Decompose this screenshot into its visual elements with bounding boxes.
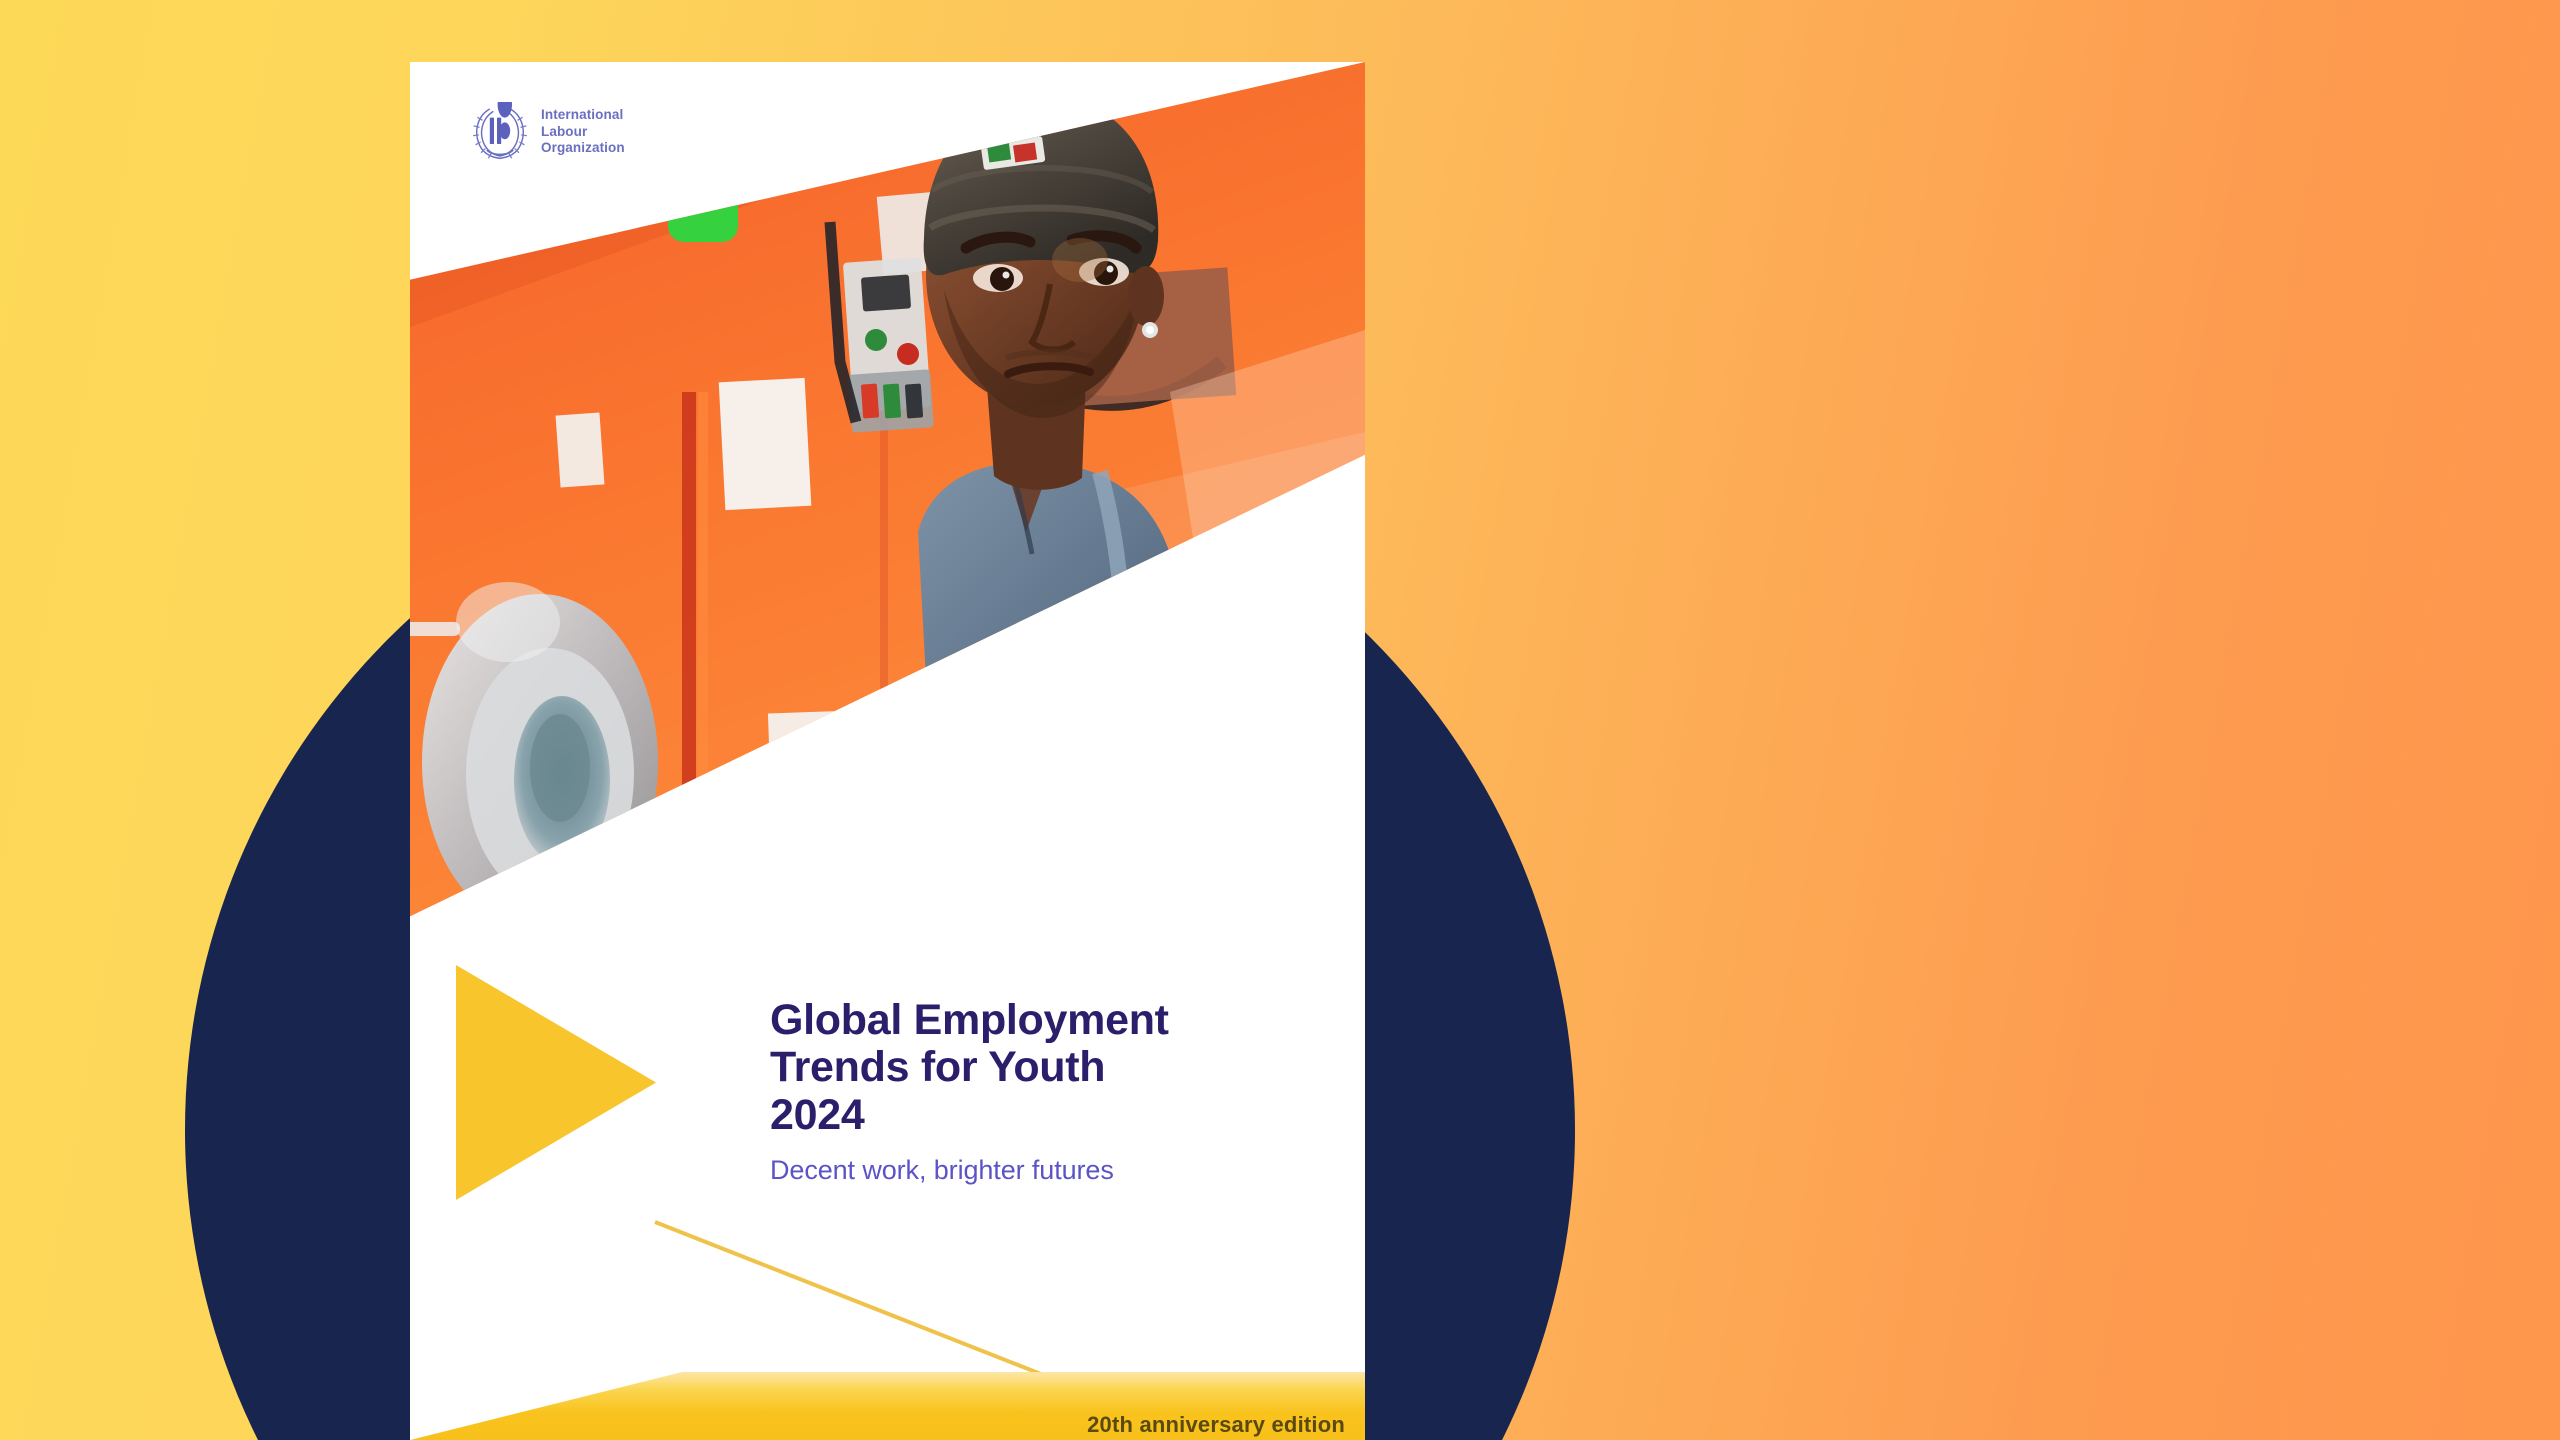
cover-title-block: Global Employment Trends for Youth 2024 … bbox=[770, 997, 1290, 1186]
ilo-emblem-icon bbox=[470, 102, 530, 162]
page-subtitle: Decent work, brighter futures bbox=[770, 1155, 1290, 1186]
photograph-illustration bbox=[410, 62, 1365, 1440]
page-title: Global Employment Trends for Youth 2024 bbox=[770, 997, 1290, 1139]
ilo-logo[interactable]: International Labour Organization bbox=[470, 102, 625, 162]
report-cover[interactable]: International Labour Organization Global… bbox=[410, 62, 1365, 1440]
ilo-logo-text: International Labour Organization bbox=[541, 107, 625, 157]
play-triangle-shape bbox=[456, 965, 656, 1200]
anniversary-label: 20th anniversary edition bbox=[410, 1372, 1365, 1440]
diagonal-rule-decoration bbox=[654, 1220, 1056, 1381]
page-background: International Labour Organization Global… bbox=[0, 0, 2560, 1440]
cover-photograph bbox=[410, 62, 1365, 1440]
